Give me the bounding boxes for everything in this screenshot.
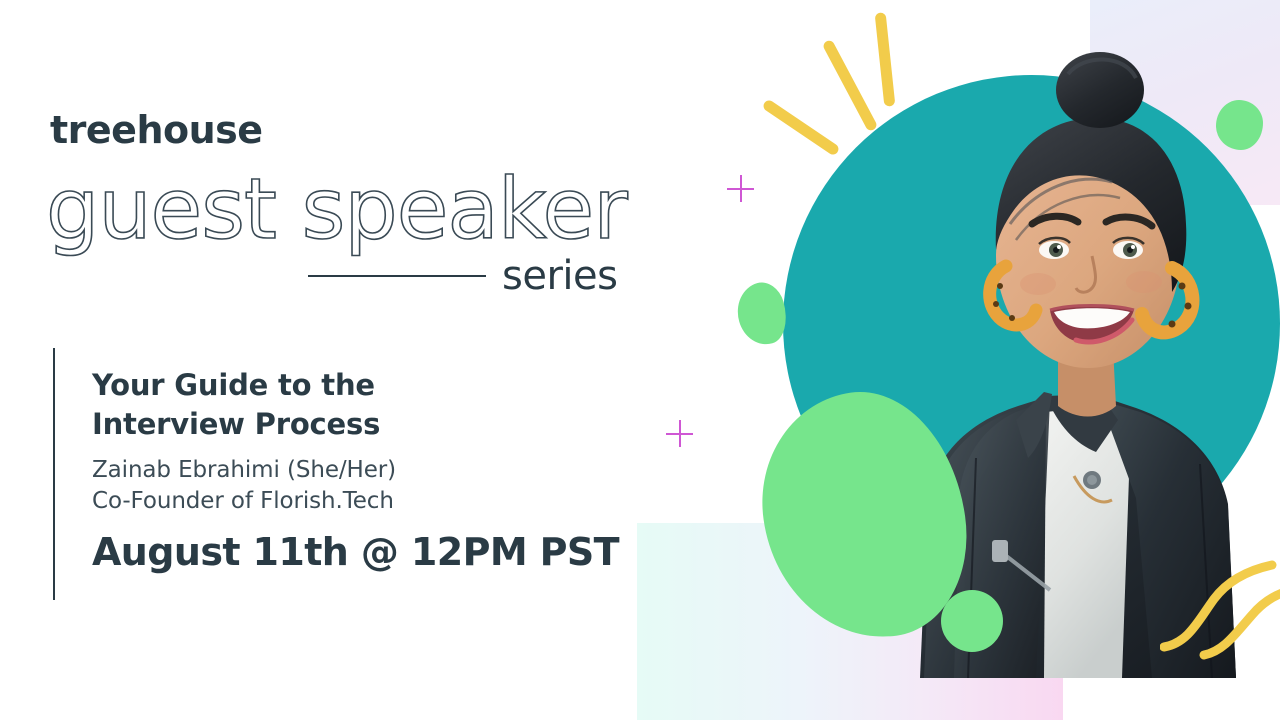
talk-title: Your Guide to the Interview Process	[92, 366, 622, 443]
talk-details: Your Guide to the Interview Process Zain…	[92, 366, 622, 574]
speaker-role: Co-Founder of Florish.Tech	[92, 486, 622, 517]
promo-graphic: treehouse guest speaker series Your Guid…	[0, 0, 1280, 720]
brand-wordmark: treehouse	[50, 108, 263, 152]
page-title: guest speaker	[46, 160, 627, 258]
plus-mark-lower-icon	[666, 420, 693, 447]
green-circle-bottom-icon	[941, 590, 1003, 652]
event-datetime: August 11th @ 12PM PST	[92, 530, 622, 574]
series-row: series	[308, 252, 628, 300]
speaker-name: Zainab Ebrahimi (She/Her)	[92, 455, 622, 486]
left-accent-rule	[53, 348, 55, 600]
yellow-waves-icon	[1160, 555, 1280, 665]
series-divider	[308, 275, 486, 277]
plus-mark-upper-icon	[727, 175, 754, 202]
series-label: series	[502, 253, 617, 299]
